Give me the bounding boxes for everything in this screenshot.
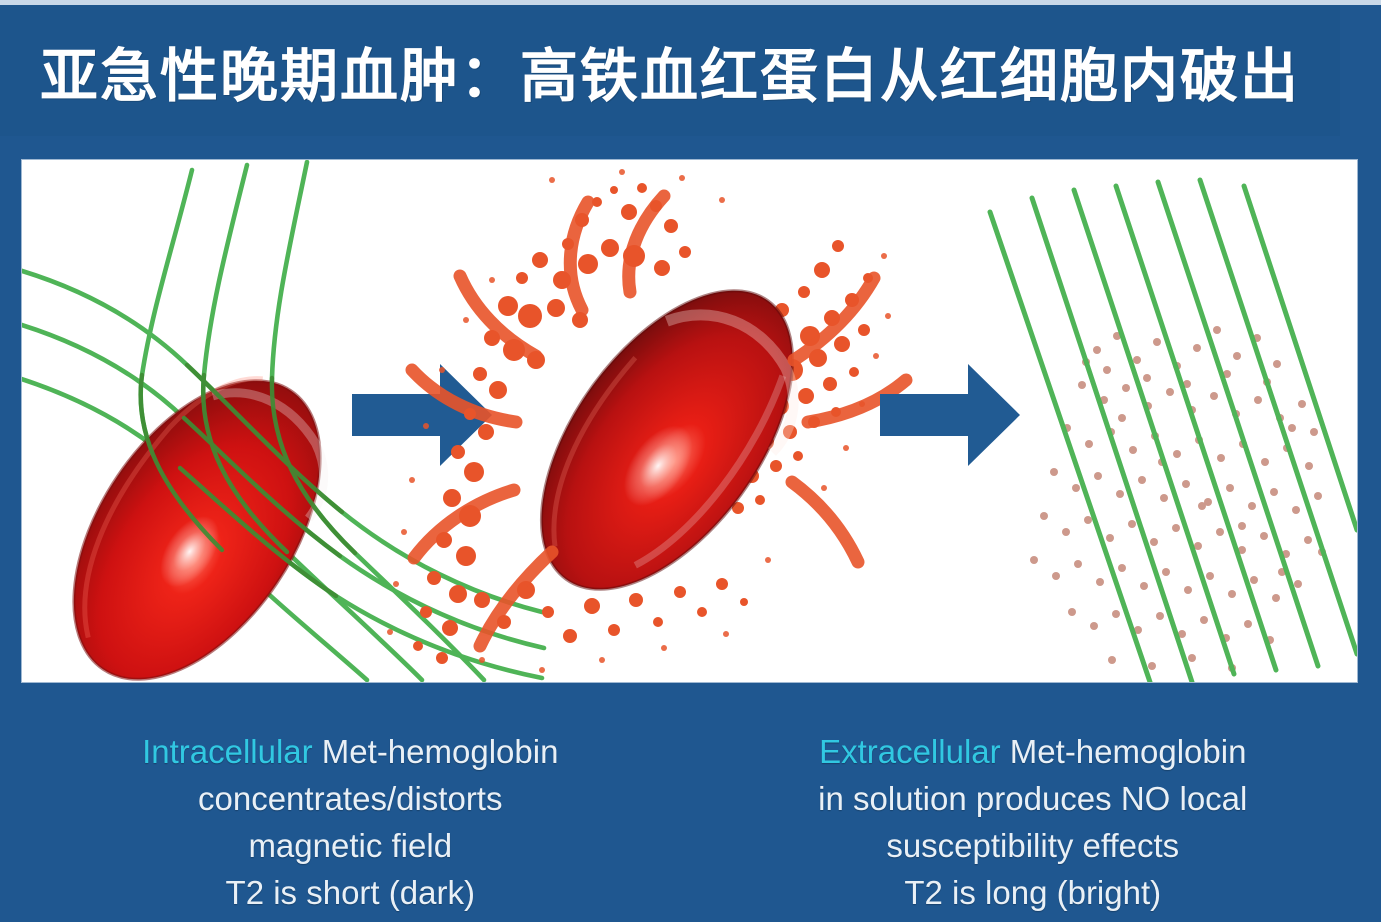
- caption-left-line-3: magnetic field: [248, 822, 452, 869]
- caption-intracellular: Intracellular Met-hemoglobin concentrate…: [0, 700, 691, 922]
- caption-right-accent: Extracellular: [819, 733, 1001, 770]
- caption-row: Intracellular Met-hemoglobin concentrate…: [0, 700, 1381, 922]
- caption-left-line-2: concentrates/distorts: [198, 775, 502, 822]
- figure-panel: [22, 160, 1357, 682]
- caption-right-line-1: Extracellular Met-hemoglobin: [819, 728, 1246, 775]
- caption-right-line-3: susceptibility effects: [886, 822, 1179, 869]
- caption-extracellular: Extracellular Met-hemoglobin in solution…: [691, 700, 1381, 922]
- caption-right-line-2: in solution produces NO local: [818, 775, 1247, 822]
- caption-left-line-1-rest: Met-hemoglobin: [313, 733, 559, 770]
- caption-left-accent: Intracellular: [142, 733, 313, 770]
- caption-right-line-1-rest: Met-hemoglobin: [1001, 733, 1247, 770]
- caption-right-line-4: T2 is long (bright): [904, 869, 1161, 916]
- page-title: 亚急性晚期血肿：高铁血红蛋白从红细胞内破出: [0, 5, 1340, 136]
- caption-left-line-1: Intracellular Met-hemoglobin: [142, 728, 558, 775]
- caption-left-line-4: T2 is short (dark): [226, 869, 475, 916]
